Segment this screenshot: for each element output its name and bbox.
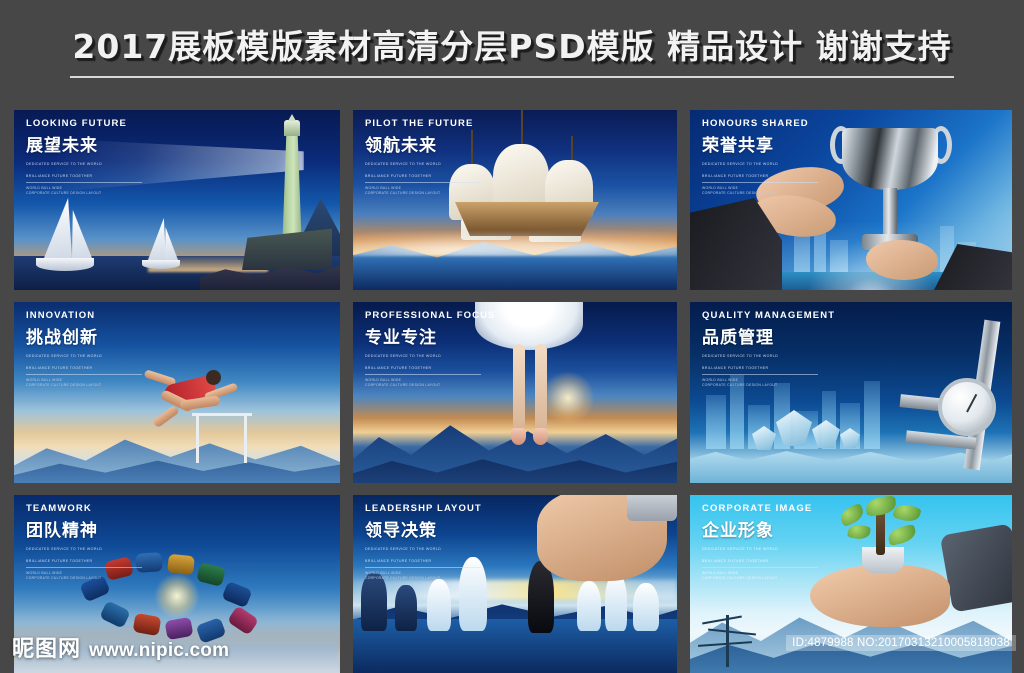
lower-leg-back	[152, 405, 180, 429]
panel-professional-focus[interactable]: PROFESSIONAL FOCUS 专业专注 DEDICATED SERVIC…	[353, 302, 677, 483]
sailboat-small	[142, 218, 182, 272]
hurdle-leg-left	[196, 413, 199, 463]
hurdle-leg-right	[244, 413, 247, 463]
trunk	[726, 615, 729, 667]
sailboat-large	[34, 198, 96, 276]
watermark-url: www.nipic.com	[89, 640, 229, 662]
leg-right	[535, 344, 547, 432]
chess-knight	[577, 581, 601, 631]
building	[706, 395, 726, 449]
lighthouse-lamp	[284, 120, 300, 136]
chess-rook	[633, 583, 659, 631]
header: 2017展板模版素材高清分层PSD模版 精品设计 谢谢支持	[0, 0, 1024, 100]
building	[730, 375, 744, 449]
head	[206, 370, 221, 385]
caliper-dial	[938, 378, 996, 436]
cupped-hands	[810, 565, 950, 627]
panel-quality-management[interactable]: QUALITY MANAGEMENT 品质管理 DEDICATED SERVIC…	[690, 302, 1012, 483]
panel-leadership-layout[interactable]: LEADERSHP LAYOUT 领导决策 DEDICATED SERVICE …	[353, 495, 677, 673]
branch	[698, 641, 752, 647]
building	[864, 381, 880, 449]
page-title: 2017展板模版素材高清分层PSD模版 精品设计 谢谢支持	[0, 20, 1024, 68]
watermark-brand: 昵图网	[12, 631, 81, 663]
shirt-cuff	[627, 495, 677, 521]
chess-pawn	[427, 579, 451, 631]
branch	[708, 628, 756, 635]
pointe-shoe-left	[511, 428, 526, 445]
sail-main	[44, 198, 72, 258]
leg-left	[513, 344, 525, 432]
skydiver	[221, 581, 252, 608]
skydiver	[135, 552, 162, 573]
hurdle	[192, 413, 254, 465]
chess-king	[459, 557, 487, 631]
skydiver	[196, 562, 226, 587]
image-id-bar: ID:4879988 NO:20170313210005818038	[786, 635, 1016, 651]
panel-looking-future[interactable]: LOOKING FUTURE 展望未来 DEDICATED SERVICE TO…	[14, 110, 340, 290]
skydiver	[99, 600, 131, 628]
trophy-stem	[883, 188, 897, 236]
branch	[702, 616, 742, 625]
sea-spray	[353, 226, 677, 256]
trophy-bowl	[842, 128, 938, 190]
skydiver	[227, 605, 259, 635]
chess-piece-silhouette	[361, 573, 387, 631]
poster-canvas: 2017展板模版素材高清分层PSD模版 精品设计 谢谢支持	[0, 0, 1024, 673]
hand-holding-trophy	[866, 240, 938, 280]
sun-flare	[154, 573, 200, 619]
panel-honours-shared[interactable]: HONOURS SHARED 荣誉共享 DEDICATED SERVICE TO…	[690, 110, 1012, 290]
thumbnail-grid: LOOKING FUTURE 展望未来 DEDICATED SERVICE TO…	[14, 110, 1012, 673]
hurdle-bar	[192, 413, 252, 416]
hull	[142, 260, 180, 269]
hull	[36, 258, 94, 271]
header-divider	[70, 76, 954, 78]
panel-pilot-the-future[interactable]: PILOT THE FUTURE 领航未来 DEDICATED SERVICE …	[353, 110, 677, 290]
panel-innovation[interactable]: INNOVATION 挑战创新 DEDICATED SERVICE TO THE…	[14, 302, 340, 483]
sail-jib	[72, 210, 92, 258]
bonsai-trunk	[876, 511, 885, 555]
skydiver	[79, 575, 110, 603]
site-watermark: 昵图网 www.nipic.com	[12, 631, 229, 663]
jacket-sleeve	[940, 523, 1012, 612]
pointe-shoe-right	[533, 428, 548, 445]
chess-piece-silhouette	[395, 585, 417, 631]
sail-jib	[165, 227, 178, 260]
sail-main	[148, 218, 166, 260]
chess-bishop	[605, 573, 627, 631]
sunset-glow	[541, 371, 595, 425]
pine-tree	[696, 597, 766, 667]
skydiver	[104, 556, 134, 581]
